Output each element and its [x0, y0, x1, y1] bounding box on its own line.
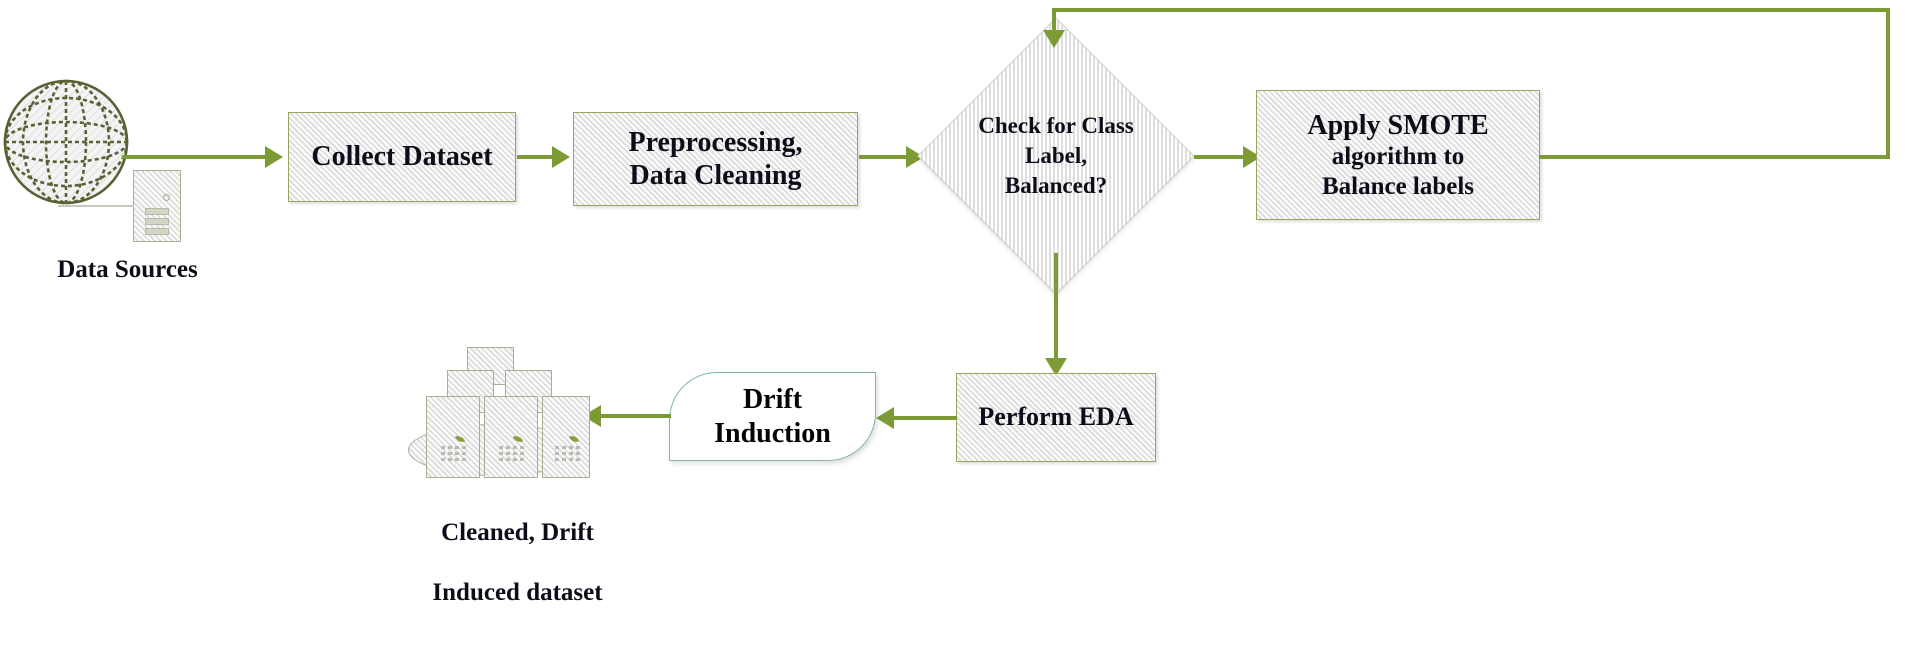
database-dots [555, 446, 580, 461]
cleaned-dataset-label-line: Induced dataset [395, 578, 640, 608]
server-led-icon [163, 194, 170, 201]
server-vent-bar [145, 228, 169, 235]
edge-drift-to-dataset [601, 414, 671, 418]
edge-decision-to-eda [1054, 253, 1058, 366]
node-check-class-label-line: Balanced? [1005, 171, 1107, 201]
edge-sources-to-collect-arrowhead [265, 146, 283, 168]
node-check-class-label-line: Check for Class [978, 111, 1133, 141]
node-drift-induction-line: Drift [743, 383, 802, 416]
database-unit-front [426, 396, 480, 478]
globe-icon [2, 78, 130, 206]
feedback-loop-arrowhead [1043, 30, 1065, 48]
edge-collect-to-preprocessing-arrowhead [552, 146, 570, 168]
node-apply-smote[interactable]: Apply SMOTE algorithm to Balance labels [1256, 90, 1540, 220]
edge-preprocessing-to-decision [859, 155, 909, 159]
node-drift-induction-line: Induction [714, 417, 831, 450]
edge-collect-to-preprocessing [517, 155, 554, 159]
flowchart-canvas: Data Sources Collect Dataset Preprocessi… [0, 0, 1905, 671]
node-apply-smote-line: algorithm to [1332, 142, 1465, 172]
node-apply-smote-line: Apply SMOTE [1307, 109, 1488, 142]
node-perform-eda[interactable]: Perform EDA [956, 373, 1156, 462]
database-unit-front [542, 396, 590, 478]
edge-eda-to-drift [894, 416, 957, 420]
node-collect-dataset-line: Collect Dataset [311, 140, 492, 173]
tower-connector-line [58, 205, 134, 207]
node-preprocessing-line: Preprocessing, [629, 126, 803, 159]
node-preprocessing[interactable]: Preprocessing, Data Cleaning [573, 112, 858, 206]
edge-decision-to-smote [1194, 155, 1246, 159]
node-perform-eda-line: Perform EDA [978, 402, 1133, 433]
feedback-loop-segment-top [1052, 8, 1890, 12]
database-dots [441, 446, 466, 461]
decision-diamond-text: Check for Class Label, Balanced? [958, 58, 1154, 254]
server-vent-bar [145, 208, 169, 215]
edge-eda-to-drift-arrowhead [876, 407, 894, 429]
database-unit-front [484, 396, 538, 478]
node-collect-dataset[interactable]: Collect Dataset [288, 112, 516, 202]
node-check-class-label[interactable]: Check for Class Label, Balanced? [958, 58, 1154, 254]
cleaned-dataset-label: Cleaned, Drift Induced dataset [395, 488, 640, 638]
node-check-class-label-line: Label, [1025, 141, 1087, 171]
node-drift-induction[interactable]: Drift Induction [669, 372, 876, 461]
database-dots [499, 446, 524, 461]
node-apply-smote-line: Balance labels [1322, 172, 1474, 202]
cleaned-dataset-label-line: Cleaned, Drift [395, 518, 640, 548]
data-sources-label: Data Sources [20, 255, 235, 285]
server-vent-bar [145, 218, 169, 225]
node-preprocessing-line: Data Cleaning [630, 159, 802, 192]
feedback-loop-segment-up [1886, 8, 1890, 159]
feedback-loop-segment-right [1539, 155, 1890, 159]
edge-sources-to-collect [122, 155, 267, 159]
